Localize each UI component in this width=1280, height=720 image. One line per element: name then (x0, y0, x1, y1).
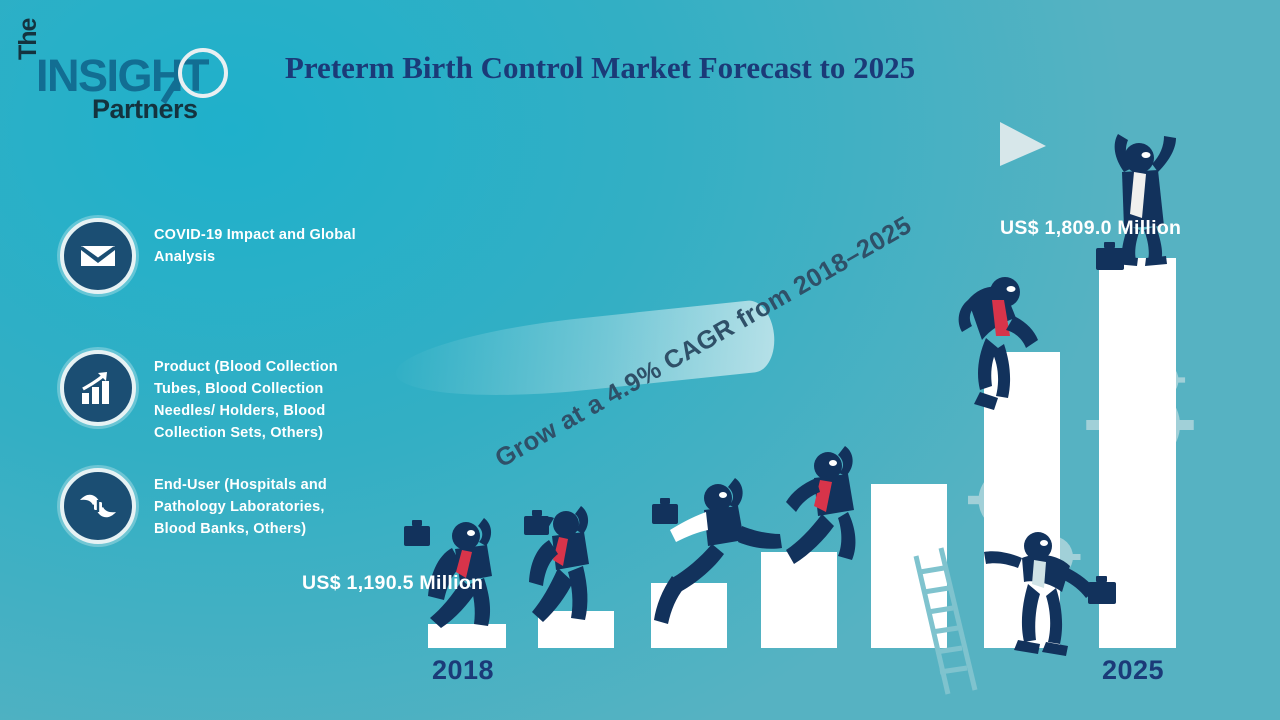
bar-1 (428, 624, 506, 648)
axis-label-2018: 2018 (432, 655, 494, 686)
bar-4 (761, 552, 837, 648)
value-label-2025: US$ 1,809.0 Million (1000, 217, 1181, 240)
bar-5 (871, 484, 947, 648)
flag-triangle-icon (1000, 122, 1046, 166)
victory-figure-7 (1096, 134, 1176, 270)
infographic-canvas: The INSIGHT Partners Preterm Birth Contr… (0, 0, 1280, 720)
runner-figure-4 (786, 446, 855, 564)
growth-bar-chart (0, 0, 1280, 720)
runner-figure-2 (524, 506, 589, 622)
axis-label-2025: 2025 (1102, 655, 1164, 686)
value-label-2018: US$ 1,190.5 Million (302, 572, 483, 595)
